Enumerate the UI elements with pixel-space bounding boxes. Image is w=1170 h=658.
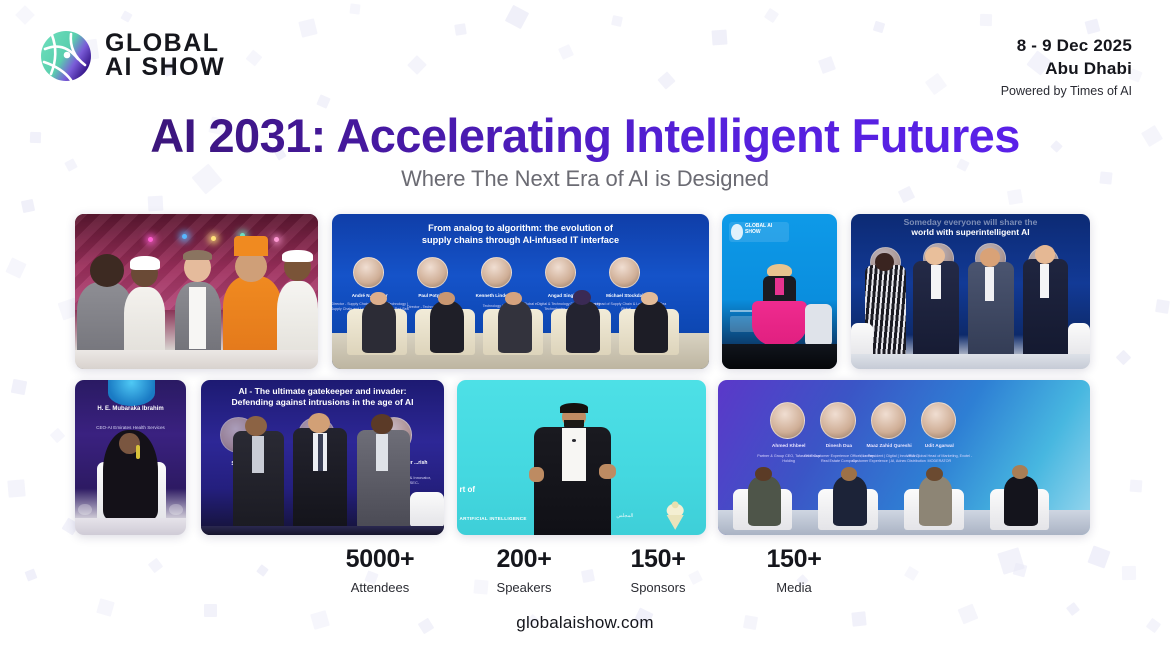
panel-screen-title-line1: AI - The ultimate gatekeeper and invader… bbox=[211, 386, 435, 396]
panel-screen-title-line1: Someday everyone will share the bbox=[861, 217, 1081, 227]
avatar bbox=[770, 402, 805, 439]
screen-text-fragment-2: ARTIFICIAL INTELLIGENCE bbox=[459, 516, 526, 521]
photo-supply-chain-panel[interactable]: From analog to algorithm: the evolution … bbox=[332, 214, 709, 369]
stat-value: 150+ bbox=[719, 545, 869, 574]
photo-cybersecurity-panel[interactable]: AI - The ultimate gatekeeper and invader… bbox=[201, 380, 444, 535]
stat-label: Media bbox=[719, 580, 869, 595]
photo-customer-experience-panel[interactable]: Ahmed Khbeel Dinesh Dua Maaz Zahid Qures… bbox=[718, 380, 1090, 535]
website-link[interactable]: globalaishow.com bbox=[0, 613, 1170, 633]
speaker-role: VP & Global Head of Marketing, Exotel - … bbox=[902, 454, 976, 463]
avatar bbox=[609, 257, 640, 288]
brand-name-line2: AI SHOW bbox=[105, 56, 225, 80]
stat-label: Attendees bbox=[305, 580, 455, 595]
banner-header: GLOBAL AI SHOW 8 - 9 Dec 2025 Abu Dhabi … bbox=[0, 0, 1170, 110]
stat-speakers: 200+ Speakers bbox=[449, 545, 599, 595]
photo-networking-reception[interactable] bbox=[75, 214, 318, 369]
page-title: AI 2031: Accelerating Intelligent Future… bbox=[0, 110, 1170, 162]
event-meta: 8 - 9 Dec 2025 Abu Dhabi Powered by Time… bbox=[1001, 36, 1132, 98]
stat-attendees: 5000+ Attendees bbox=[305, 545, 455, 595]
globe-logo-icon bbox=[38, 28, 94, 84]
stat-value: 200+ bbox=[449, 545, 599, 574]
powered-by-label: Powered by Times of AI bbox=[1001, 84, 1132, 98]
panel-screen-title-line2: supply chains through AI-infused IT inte… bbox=[347, 235, 694, 246]
avatar bbox=[871, 402, 906, 439]
keynote-screen-logo: GLOBAL AI SHOW bbox=[745, 224, 789, 236]
fireside-speaker-name: H. E. Mubaraka Ibrahim bbox=[81, 406, 181, 413]
speaker-name: Udit Agarwal bbox=[902, 444, 976, 450]
avatar bbox=[417, 257, 448, 288]
brand-logo[interactable]: GLOBAL AI SHOW bbox=[38, 28, 225, 84]
page-subtitle: Where The Next Era of AI is Designed bbox=[0, 166, 1170, 192]
stat-value: 5000+ bbox=[305, 545, 455, 574]
panel-screen-title-line2: Defending against intrusions in the age … bbox=[211, 397, 435, 407]
panel-screen-title: From analog to algorithm: the evolution … bbox=[347, 223, 694, 245]
avatar bbox=[921, 402, 956, 439]
panel-screen-title-line2: world with superintelligent AI bbox=[861, 227, 1081, 237]
stat-label: Speakers bbox=[449, 580, 599, 595]
photo-keynote-speaker-pink[interactable]: GLOBAL AI SHOW bbox=[722, 214, 837, 369]
avatar bbox=[353, 257, 384, 288]
panel-screen-title-line1: From analog to algorithm: the evolution … bbox=[347, 223, 694, 234]
avatar bbox=[481, 257, 512, 288]
avatar bbox=[545, 257, 576, 288]
photo-superintelligent-panel[interactable]: Someday everyone will share the world wi… bbox=[851, 214, 1090, 369]
event-date: 8 - 9 Dec 2025 bbox=[1001, 36, 1132, 56]
brand-wordmark: GLOBAL AI SHOW bbox=[105, 32, 225, 80]
avatar bbox=[820, 402, 855, 439]
screen-text-fragment-1: rt of bbox=[459, 485, 475, 494]
photo-healthcare-fireside[interactable]: H. E. Mubaraka Ibrahim CEO-AI Emirates H… bbox=[75, 380, 186, 535]
stat-sponsors: 150+ Sponsors bbox=[583, 545, 733, 595]
stat-value: 150+ bbox=[583, 545, 733, 574]
stat-label: Sponsors bbox=[583, 580, 733, 595]
panel-screen-title: Someday everyone will share the world wi… bbox=[861, 217, 1081, 238]
stat-media: 150+ Media bbox=[719, 545, 869, 595]
event-banner: GLOBAL AI SHOW 8 - 9 Dec 2025 Abu Dhabi … bbox=[0, 0, 1170, 658]
photo-solo-speaker-teal[interactable]: rt of ARTIFICIAL INTELLIGENCE المجلس bbox=[457, 380, 706, 535]
event-city: Abu Dhabi bbox=[1001, 59, 1132, 79]
panel-screen-title: AI - The ultimate gatekeeper and invader… bbox=[211, 386, 435, 407]
